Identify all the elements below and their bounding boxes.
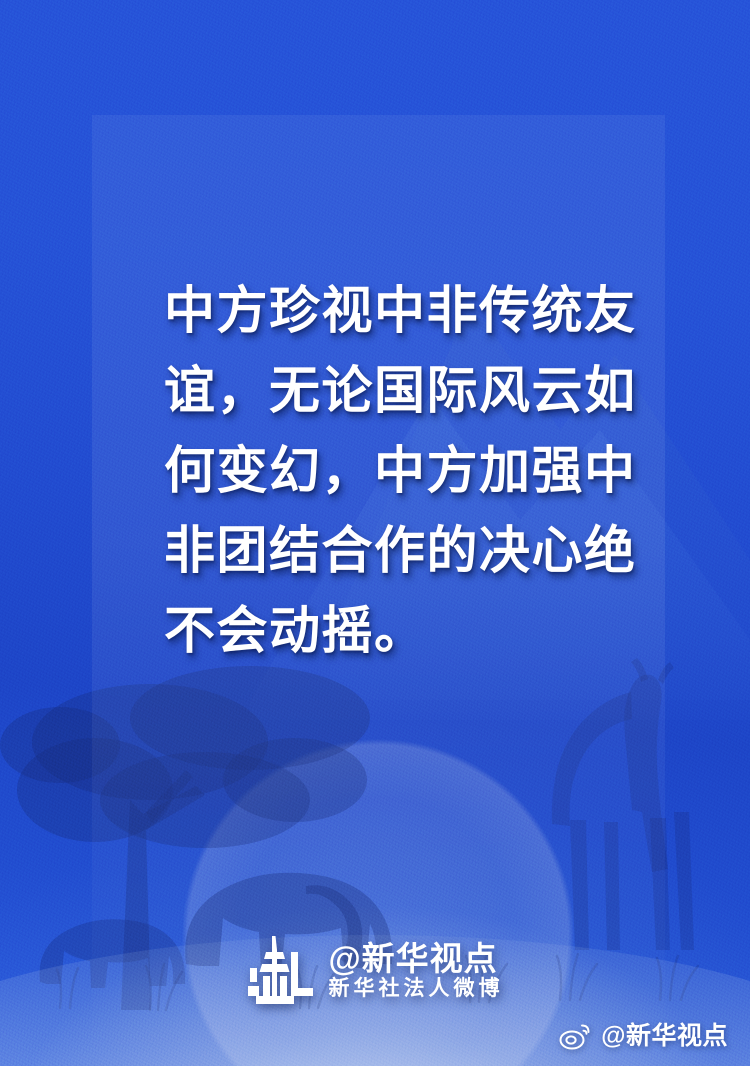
- quote-line-2: 谊，无论国际风云如: [164, 352, 594, 432]
- logo-handle: @新华视点: [329, 942, 504, 975]
- giraffe: [552, 658, 694, 950]
- xinhua-logo-mark: [247, 934, 315, 1006]
- poster-canvas: 中方珍视中非传统友 谊，无论国际风云如 何变幻，中方加强中 非团结合作的决心绝 …: [0, 0, 750, 1066]
- quote-line-4: 非团结合作的决心绝: [164, 512, 594, 592]
- quote-block: 中方珍视中非传统友 谊，无论国际风云如 何变幻，中方加强中 非团结合作的决心绝 …: [164, 272, 594, 672]
- sun-disc: [182, 739, 574, 1066]
- quote-line-1: 中方珍视中非传统友: [164, 272, 594, 352]
- quote-line-5: 不会动摇。: [164, 592, 594, 672]
- xinhua-logo-text: @新华视点 新华社法人微博: [329, 942, 504, 999]
- weibo-handle: @新华视点: [601, 1024, 728, 1049]
- logo-subtitle: 新华社法人微博: [329, 978, 504, 999]
- weibo-icon: [559, 1022, 593, 1050]
- weibo-watermark[interactable]: @新华视点: [559, 1022, 728, 1050]
- xinhua-logo-lockup[interactable]: @新华视点 新华社法人微博: [0, 934, 750, 1006]
- quote-line-3: 何变幻，中方加强中: [164, 432, 594, 512]
